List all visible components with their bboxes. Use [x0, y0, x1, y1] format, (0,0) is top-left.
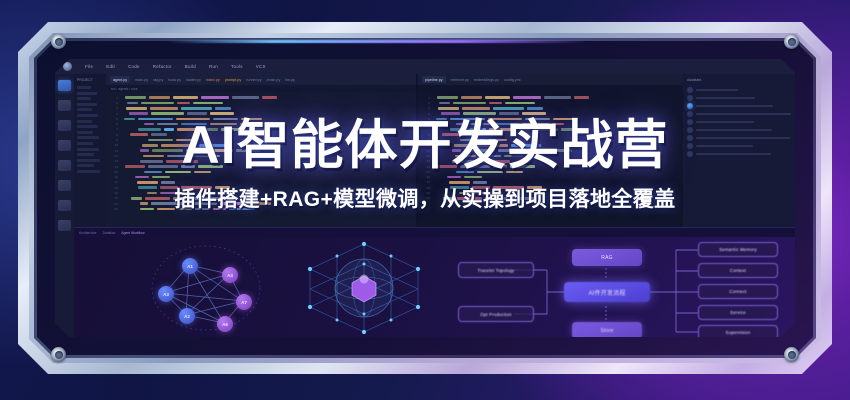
search-icon[interactable]: [58, 100, 71, 111]
code-line-number: 22: [109, 207, 118, 211]
code-line-number: 18: [109, 186, 118, 190]
network-node[interactable]: A2: [179, 308, 195, 324]
code-token: [438, 107, 459, 110]
code-line-number: 2: [421, 101, 430, 105]
code-line-number: 9: [421, 138, 430, 142]
code-token: [181, 165, 195, 168]
assistant-row[interactable]: [687, 94, 791, 102]
code-token: [462, 107, 490, 110]
code-token: [130, 133, 148, 136]
assistant-item-icon: [687, 111, 693, 117]
network-node[interactable]: A7: [236, 294, 252, 310]
assistant-row[interactable]: [687, 110, 791, 118]
code-token: [213, 208, 226, 211]
code-token: [138, 186, 157, 189]
code-token: [124, 118, 135, 121]
code-token: [533, 128, 558, 131]
code-line-number: 8: [421, 133, 430, 137]
network-node[interactable]: A6: [217, 316, 233, 332]
code-token: [210, 123, 237, 126]
editor-tab[interactable]: llm.py: [285, 78, 295, 82]
code-line-number: 16: [109, 175, 118, 179]
explorer-file-row[interactable]: [77, 120, 92, 123]
editor2-tab[interactable]: retriever.py: [451, 78, 469, 82]
code-token: [144, 123, 154, 126]
code-token: [186, 149, 203, 152]
code-token: [221, 128, 246, 131]
code-token: [437, 165, 457, 168]
code-token: [157, 208, 175, 211]
network-node[interactable]: A1: [182, 258, 198, 274]
code-token: [229, 208, 255, 211]
editor-tab[interactable]: agent.py: [110, 76, 130, 83]
code-token: [140, 160, 163, 163]
explorer-file-row[interactable]: [77, 108, 92, 111]
lattice-icon: [302, 238, 427, 336]
assistant-item-icon: [687, 127, 693, 133]
explorer-file-row[interactable]: [77, 136, 99, 139]
code-token: [161, 144, 196, 147]
code-token: [165, 171, 191, 174]
code-token: [519, 128, 530, 131]
code-token: [450, 128, 473, 131]
ide-menubar[interactable]: File Edit Code Refactor Build Run Tools …: [55, 59, 795, 74]
code-token: [479, 155, 501, 158]
code-line-number: 19: [421, 191, 430, 195]
assistant-row-label: [696, 89, 738, 92]
code-token: [493, 123, 519, 126]
code-token: [151, 112, 184, 115]
code-token: [214, 155, 220, 158]
editor-tab[interactable]: tools.py: [168, 78, 181, 82]
code-token: [249, 128, 267, 131]
viz-tab-agent-workflow[interactable]: Agent Workflow: [121, 231, 144, 235]
source-control-icon[interactable]: [58, 120, 71, 131]
code-token: [464, 176, 482, 179]
editor-tab[interactable]: main.py: [135, 78, 148, 82]
explorer-file-row[interactable]: [77, 92, 97, 95]
code-token: [127, 102, 138, 105]
code-line-number: 17: [109, 180, 118, 184]
code-token: [150, 107, 178, 110]
visualization-strip: Architecture Dataflow Agent Workflow: [74, 227, 795, 337]
code-token: [135, 176, 149, 179]
code-token: [194, 171, 211, 174]
assistant-row-label: [696, 97, 755, 100]
code-token: [215, 107, 231, 110]
code-token: [240, 123, 252, 126]
code-token: [232, 96, 259, 99]
flow-node-right-2[interactable]: Context: [698, 263, 778, 278]
menu-item-run[interactable]: Run: [209, 64, 218, 69]
code-token: [142, 144, 158, 147]
assistant-row-label: [696, 113, 791, 116]
ide-activity-bar[interactable]: [55, 74, 74, 337]
code-line-number: 2: [109, 101, 118, 105]
assistant-row[interactable]: [687, 142, 791, 150]
code-token: [148, 165, 178, 168]
code-token: [129, 112, 148, 115]
network-node[interactable]: A3: [158, 286, 174, 302]
code-token: [166, 160, 198, 163]
code-token: [544, 96, 571, 99]
code-token: [485, 96, 510, 99]
code-line-number: 11: [109, 149, 118, 153]
code-token: [485, 197, 498, 200]
assistant-row[interactable]: [687, 102, 791, 110]
editor2-tab[interactable]: embeddings.py: [474, 78, 499, 82]
agent-workflow-flowchart: RAG AI件开发流程 Store Tracelet Topology Opt …: [454, 236, 789, 333]
frame-screw-top-right-icon: [784, 34, 799, 49]
menu-item-file[interactable]: File: [85, 64, 93, 69]
code-token: [459, 192, 469, 195]
code-token: [493, 107, 524, 110]
code-token: [456, 171, 474, 174]
code-token: [236, 149, 260, 152]
code-token: [457, 197, 482, 200]
code-token: [181, 186, 212, 189]
code-line-number: 3: [421, 106, 430, 110]
code-token: [149, 96, 170, 99]
code-token: [452, 149, 461, 152]
code-token: [131, 197, 142, 200]
code-line-number: 21: [109, 202, 118, 206]
code-token: [167, 155, 189, 158]
flow-node-center[interactable]: AI件开发流程: [564, 282, 650, 302]
viz-tab-architecture[interactable]: Architecture: [79, 231, 97, 235]
code-line: 20: [421, 196, 683, 201]
code-token: [478, 160, 510, 163]
code-token: [173, 197, 186, 200]
code-token: [145, 197, 170, 200]
flow-node-right-1[interactable]: Semantic Memory: [698, 242, 778, 257]
code-token: [439, 102, 450, 105]
code-line-number: 6: [109, 122, 118, 126]
code-token: [460, 139, 485, 142]
code-token: [460, 165, 490, 168]
code-line-number: 7: [421, 127, 430, 131]
editor-tabstrip[interactable]: agent.py main.py rag.py tools.py loader.…: [106, 74, 416, 85]
code-token: [199, 144, 229, 147]
code-line-number: 4: [421, 112, 430, 116]
code-token: [180, 192, 190, 195]
code-token: [469, 123, 490, 126]
code-token: [151, 133, 167, 136]
assistant-row-label: [696, 105, 773, 108]
code-token: [140, 202, 148, 205]
code-line-number: 5: [109, 117, 118, 121]
code-token: [192, 155, 211, 158]
network-node[interactable]: A4: [222, 267, 238, 283]
code-token: [160, 192, 177, 195]
code-token: [525, 118, 550, 121]
assistant-item-icon: [687, 151, 693, 157]
explorer-file-row[interactable]: [77, 97, 91, 100]
code-token: [463, 133, 479, 136]
explorer-file-row[interactable]: [77, 103, 97, 106]
code-line-number: 7: [109, 127, 118, 131]
code-token: [513, 96, 541, 99]
explorer-file-row[interactable]: [77, 131, 93, 134]
explorer-file-row[interactable]: [77, 125, 98, 128]
assistant-row[interactable]: [687, 126, 791, 134]
code-line-number: 11: [421, 149, 430, 153]
code-token: [452, 160, 475, 163]
isometric-core-lattice: [302, 238, 427, 336]
assistant-panel-header: Assistant: [687, 78, 791, 82]
code-token: [189, 197, 223, 200]
code-token: [125, 96, 146, 99]
code-token: [574, 96, 589, 99]
editor-tab[interactable]: chain.py: [267, 78, 281, 82]
code-token: [449, 181, 470, 184]
code-token: [247, 202, 271, 205]
explorer-file-row[interactable]: [77, 114, 98, 117]
code-token: [441, 112, 460, 115]
assistant-item-icon: [687, 143, 693, 149]
code-token: [527, 107, 543, 110]
breadcrumb-text: src › agents › core: [111, 87, 138, 91]
code-token: [506, 171, 523, 174]
code-token: [456, 123, 466, 126]
menu-item-build[interactable]: Build: [185, 64, 196, 69]
assistant-active-icon: [687, 103, 693, 109]
viz-tab-dataflow[interactable]: Dataflow: [103, 231, 116, 235]
assistant-row-label: [696, 137, 790, 140]
code-token: [463, 112, 496, 115]
menu-item-tools[interactable]: Tools: [231, 64, 243, 69]
code-line-number: 20: [109, 196, 118, 200]
code-token: [193, 102, 223, 105]
code-line-number: 3: [109, 106, 118, 110]
code-token: [447, 176, 461, 179]
code-line-number: 12: [109, 154, 118, 158]
explorer-file-row[interactable]: [77, 159, 100, 162]
code-token: [501, 197, 535, 200]
explorer-file-row[interactable]: [77, 148, 99, 151]
code-token: [215, 186, 230, 189]
assistant-item-icon: [687, 87, 693, 93]
flow-node-rag[interactable]: RAG: [572, 249, 642, 266]
code-token: [181, 107, 212, 110]
code-token: [561, 128, 579, 131]
code-token: [157, 123, 178, 126]
code-token: [161, 181, 175, 184]
code-token: [125, 165, 145, 168]
code-token: [552, 123, 564, 126]
code-line-number: 10: [421, 143, 430, 147]
agent-network-graph: A1A4A3A7A2A6: [146, 242, 266, 334]
assistant-item-icon: [687, 135, 693, 141]
code-line-number: 15: [109, 170, 118, 174]
code-token: [187, 202, 217, 205]
code-line-number: 14: [109, 165, 118, 169]
code-token: [522, 112, 546, 115]
settings-icon[interactable]: [58, 220, 71, 231]
code-token: [464, 149, 495, 152]
code-line-number: 17: [421, 180, 430, 184]
code-token: [144, 171, 162, 174]
ide-screen: File Edit Code Refactor Build Run Tools …: [55, 59, 795, 337]
code-line-number: 9: [109, 138, 118, 142]
code-line-number: 12: [421, 154, 430, 158]
code-token: [173, 96, 198, 99]
explorer-icon[interactable]: [58, 80, 71, 91]
frame-screw-bottom-left-icon: [51, 347, 66, 362]
code-token: [181, 123, 207, 126]
code-token: [488, 139, 507, 142]
code-token: [201, 96, 229, 99]
explorer-file-row[interactable]: [77, 142, 93, 145]
debug-icon[interactable]: [58, 140, 71, 151]
menu-item-vcs[interactable]: VCS: [256, 64, 266, 69]
code-line: 22: [109, 206, 416, 211]
code-token: [140, 149, 149, 152]
assistant-item-icon: [687, 119, 693, 125]
explorer-file-row[interactable]: [77, 86, 91, 89]
code-token: [210, 112, 234, 115]
code-token: [472, 186, 490, 189]
assistant-row[interactable]: [687, 150, 791, 158]
code-token: [553, 118, 574, 121]
code-token: [220, 202, 244, 205]
editor-tab[interactable]: runner.py: [246, 78, 261, 82]
assistant-row-label: [696, 145, 753, 148]
extensions-icon[interactable]: [58, 160, 71, 171]
code-token: [492, 192, 502, 195]
code-token: [207, 128, 218, 131]
editor2-tab[interactable]: pipeline.py: [422, 76, 446, 83]
editor-tab[interactable]: prompt.py: [225, 78, 241, 82]
code-token: [472, 192, 489, 195]
code-line-number: 5: [421, 117, 430, 121]
code-token: [450, 186, 469, 189]
code-token: [177, 128, 204, 131]
code-token: [504, 155, 523, 158]
code-token: [160, 186, 178, 189]
flow-node-left-2[interactable]: Opt Production: [458, 306, 534, 322]
code-token: [477, 171, 503, 174]
code-line-number: 16: [421, 175, 430, 179]
code-line-number: 13: [421, 159, 430, 163]
code-token: [140, 208, 154, 211]
menu-item-refactor[interactable]: Refactor: [153, 64, 172, 69]
code-token: [152, 176, 170, 179]
editor-breadcrumb[interactable]: src › agents › core: [106, 85, 416, 92]
code-line-number: 15: [421, 170, 430, 174]
code-token: [177, 102, 190, 105]
assistant-row[interactable]: [687, 134, 791, 142]
menu-item-code[interactable]: Code: [128, 64, 140, 69]
code-token: [137, 181, 158, 184]
code-token: [126, 107, 147, 110]
code-token: [548, 149, 572, 152]
code-line-number: 4: [109, 112, 118, 116]
code-line-number: 8: [109, 133, 118, 137]
editor2-tab[interactable]: config.yml: [504, 78, 521, 82]
assistant-row-label: [696, 153, 771, 156]
assistant-row-label: [696, 121, 754, 124]
code-token: [437, 96, 458, 99]
code-token: [138, 128, 161, 131]
code-token: [178, 208, 192, 211]
frame-accent-light: [168, 40, 588, 43]
code-line-number: 20: [421, 196, 430, 200]
code-token: [262, 96, 277, 99]
code-token: [198, 165, 223, 168]
frame-screw-bottom-right-icon: [784, 347, 799, 362]
code-token: [152, 149, 183, 152]
code-token: [195, 208, 210, 211]
code-token: [493, 186, 524, 189]
code-token: [206, 149, 233, 152]
editor-tab[interactable]: index.py: [206, 78, 220, 82]
code-token: [461, 96, 482, 99]
code-token: [213, 118, 238, 121]
explorer-file-row[interactable]: [77, 164, 94, 167]
explorer-file-row[interactable]: [77, 153, 94, 156]
menu-item-edit[interactable]: Edit: [106, 64, 115, 69]
assistant-row[interactable]: [687, 86, 791, 94]
code-token: [526, 155, 532, 158]
code-token: [499, 112, 519, 115]
code-token: [473, 144, 508, 147]
assistant-row-label: [696, 129, 772, 132]
assistant-row[interactable]: [687, 118, 791, 126]
explorer-file-row[interactable]: [77, 170, 100, 173]
code-token: [511, 144, 541, 147]
account-icon[interactable]: [58, 200, 71, 211]
code-line-number: 18: [421, 186, 430, 190]
flow-node-right-5[interactable]: Supervision: [698, 325, 778, 337]
flow-node-left-1[interactable]: Tracelet Topology: [458, 262, 534, 278]
flow-node-right-3[interactable]: Connect: [698, 284, 778, 299]
code-token: [488, 118, 522, 121]
frame-screw-top-left-icon: [51, 34, 66, 49]
editor-tab[interactable]: loader.py: [186, 78, 201, 82]
code-line-number: 19: [109, 191, 118, 195]
cloud-icon[interactable]: [58, 180, 71, 191]
code-token: [489, 102, 502, 105]
code-token: [510, 165, 535, 168]
assistant-item-icon: [687, 95, 693, 101]
code-token: [493, 165, 507, 168]
code-token: [505, 102, 535, 105]
code-line-number: 13: [109, 159, 118, 163]
code-token: [522, 123, 549, 126]
code-token: [148, 139, 173, 142]
code-token: [436, 118, 447, 121]
code-line-number: 14: [421, 165, 430, 169]
flow-node-store[interactable]: Store: [572, 322, 642, 337]
code-token: [241, 118, 262, 121]
code-token: [450, 118, 485, 121]
code-token: [141, 102, 174, 105]
code-token: [176, 118, 210, 121]
flow-node-right-4[interactable]: Service: [698, 305, 778, 320]
editor-tab[interactable]: rag.py: [153, 78, 163, 82]
editor2-tabstrip[interactable]: pipeline.py retriever.py embeddings.py c…: [418, 74, 683, 85]
device-frame: File Edit Code Refactor Build Run Tools …: [18, 22, 832, 374]
code-token: [151, 202, 184, 205]
code-token: [454, 144, 470, 147]
code-token: [527, 186, 542, 189]
code-line-number: 10: [109, 143, 118, 147]
code-line-number: 1: [109, 96, 118, 100]
code-token: [489, 128, 516, 131]
code-token: [473, 181, 487, 184]
code-token: [518, 149, 545, 152]
